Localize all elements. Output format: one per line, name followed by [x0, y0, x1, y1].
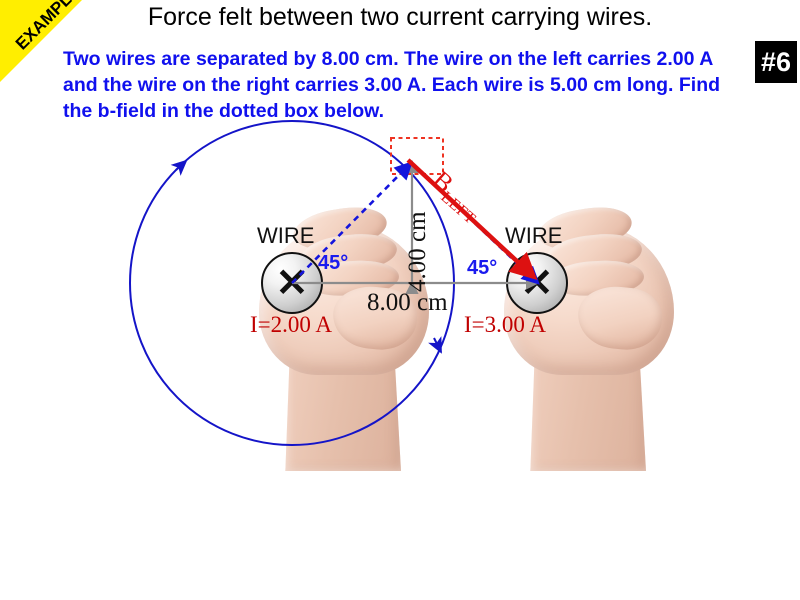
separation-label: 8.00 cm: [367, 289, 448, 317]
problem-statement: Two wires are separated by 8.00 cm. The …: [63, 46, 749, 124]
left-angle-label: 45°: [318, 252, 348, 275]
right-wire-x-icon: ✕: [508, 254, 566, 312]
slide-canvas: ✕ ✕: [0, 0, 800, 600]
problem-number-badge: #6: [755, 41, 797, 83]
height-label: 4.00 cm: [404, 211, 432, 292]
right-wire-label: WIRE: [505, 223, 562, 249]
right-current-label: I=3.00 A: [464, 312, 546, 338]
right-wire-symbol: ✕: [506, 252, 568, 314]
left-wire-symbol: ✕: [261, 252, 323, 314]
left-wire-label: WIRE: [257, 223, 314, 249]
left-current-label: I=2.00 A: [250, 312, 332, 338]
page-title: Force felt between two current carrying …: [0, 3, 800, 32]
left-wire-x-icon: ✕: [263, 254, 321, 312]
right-angle-label: 45°: [467, 257, 497, 280]
